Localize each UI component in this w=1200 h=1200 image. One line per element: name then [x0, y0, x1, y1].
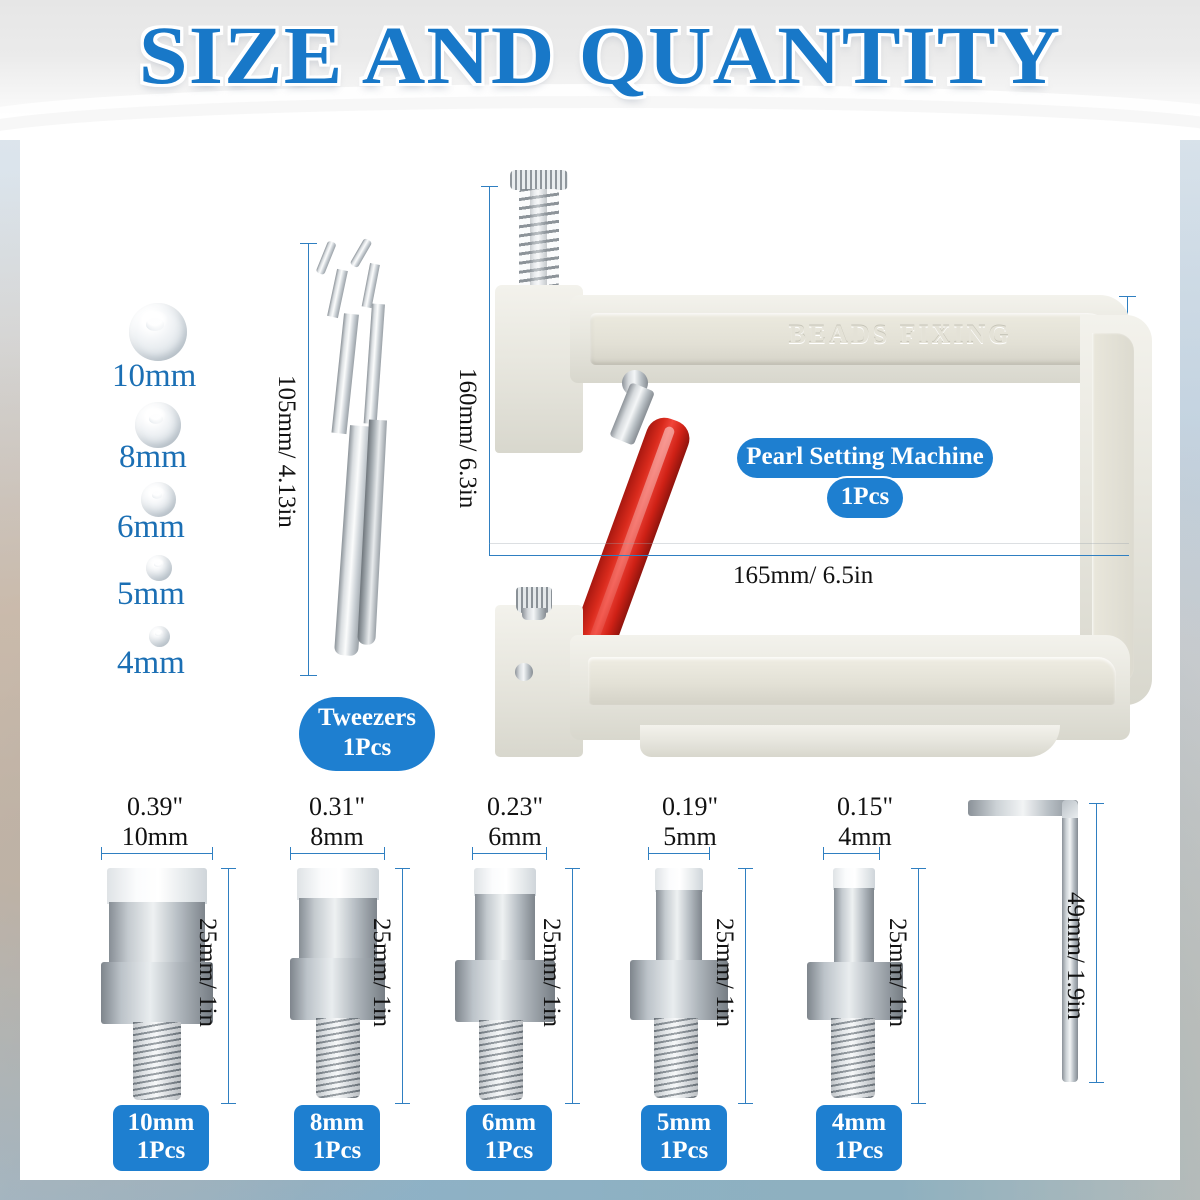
die-inch-label-8mm: 0.31": [277, 792, 397, 822]
pearl-label-10mm: 10mm: [112, 360, 196, 393]
pearl-10mm: [129, 303, 187, 361]
die-badge-size-10mm: 10mm: [113, 1109, 209, 1137]
die-badge-qty-8mm: 1Pcs: [294, 1137, 380, 1165]
die-height-line-8mm: [402, 868, 403, 1103]
tweezers-image: [320, 240, 430, 660]
die-badge-qty-5mm: 1Pcs: [641, 1137, 727, 1165]
die-badge-6mm: 6mm 1Pcs: [466, 1105, 552, 1171]
tweezers-badge: Tweezers 1Pcs: [299, 697, 435, 771]
tweezers-tick-top: [300, 243, 317, 244]
die-height-label-5mm: 25mm/ 1in: [710, 918, 738, 1027]
header-banner: SIZE AND QUANTITY: [0, 0, 1200, 140]
die-badge-size-5mm: 5mm: [641, 1109, 727, 1137]
die-badge-size-6mm: 6mm: [466, 1109, 552, 1137]
page-title: SIZE AND QUANTITY: [0, 14, 1200, 97]
tweezers-dimension-line: [308, 243, 309, 675]
die-badge-size-8mm: 8mm: [294, 1109, 380, 1137]
die-height-label-10mm: 25mm/ 1in: [193, 918, 221, 1027]
die-badge-10mm: 10mm 1Pcs: [113, 1105, 209, 1171]
pearl-label-6mm: 6mm: [117, 511, 185, 544]
die-height-label-8mm: 25mm/ 1in: [367, 918, 395, 1027]
machine-embossed-label: BEADS FIXING: [770, 320, 1030, 350]
die-badge-qty-10mm: 1Pcs: [113, 1137, 209, 1165]
tweezers-badge-qty: 1Pcs: [299, 733, 435, 763]
die-height-line-4mm: [918, 868, 919, 1103]
die-badge-5mm: 5mm 1Pcs: [641, 1105, 727, 1171]
die-height-label-6mm: 25mm/ 1in: [537, 918, 565, 1027]
die-mm-label-8mm: 8mm: [277, 822, 397, 852]
wrench-dimension-line: [1096, 803, 1097, 1082]
machine-name-badge: Pearl Setting Machine: [737, 438, 993, 478]
machine-width-guide: [489, 543, 1129, 544]
pearl-label-8mm: 8mm: [119, 441, 187, 474]
die-width-bracket-10mm: [101, 853, 213, 854]
die-mm-label-10mm: 10mm: [95, 822, 215, 852]
machine-qty-badge: 1Pcs: [827, 478, 903, 518]
die-height-line-6mm: [572, 868, 573, 1103]
die-height-line-10mm: [228, 868, 229, 1103]
die-badge-4mm: 4mm 1Pcs: [816, 1105, 902, 1171]
die-badge-8mm: 8mm 1Pcs: [294, 1105, 380, 1171]
pearl-label-5mm: 5mm: [117, 578, 185, 611]
die-inch-label-5mm: 0.19": [630, 792, 750, 822]
tweezers-dimension-label: 105mm/ 4.13in: [272, 375, 300, 528]
machine-width-label: 165mm/ 6.5in: [733, 562, 873, 590]
die-width-bracket-5mm: [648, 853, 710, 854]
pearl-4mm: [149, 626, 170, 647]
die-width-bracket-8mm: [290, 853, 385, 854]
die-inch-label-10mm: 0.39": [95, 792, 215, 822]
die-inch-label-4mm: 0.15": [805, 792, 925, 822]
die-mm-label-6mm: 6mm: [455, 822, 575, 852]
tweezers-badge-name: Tweezers: [299, 703, 435, 733]
machine-width-line: [489, 555, 1129, 556]
die-height-label-4mm: 25mm/ 1in: [883, 918, 911, 1027]
die-height-line-5mm: [745, 868, 746, 1103]
wrench-dimension-label: 49mm/ 1.9in: [1061, 892, 1089, 1020]
die-badge-size-4mm: 4mm: [816, 1109, 902, 1137]
die-width-bracket-6mm: [472, 853, 547, 854]
tweezers-tick-bottom: [300, 675, 317, 676]
die-badge-qty-4mm: 1Pcs: [816, 1137, 902, 1165]
die-inch-label-6mm: 0.23": [455, 792, 575, 822]
die-width-bracket-4mm: [823, 853, 880, 854]
die-badge-qty-6mm: 1Pcs: [466, 1137, 552, 1165]
pearl-label-4mm: 4mm: [117, 647, 185, 680]
